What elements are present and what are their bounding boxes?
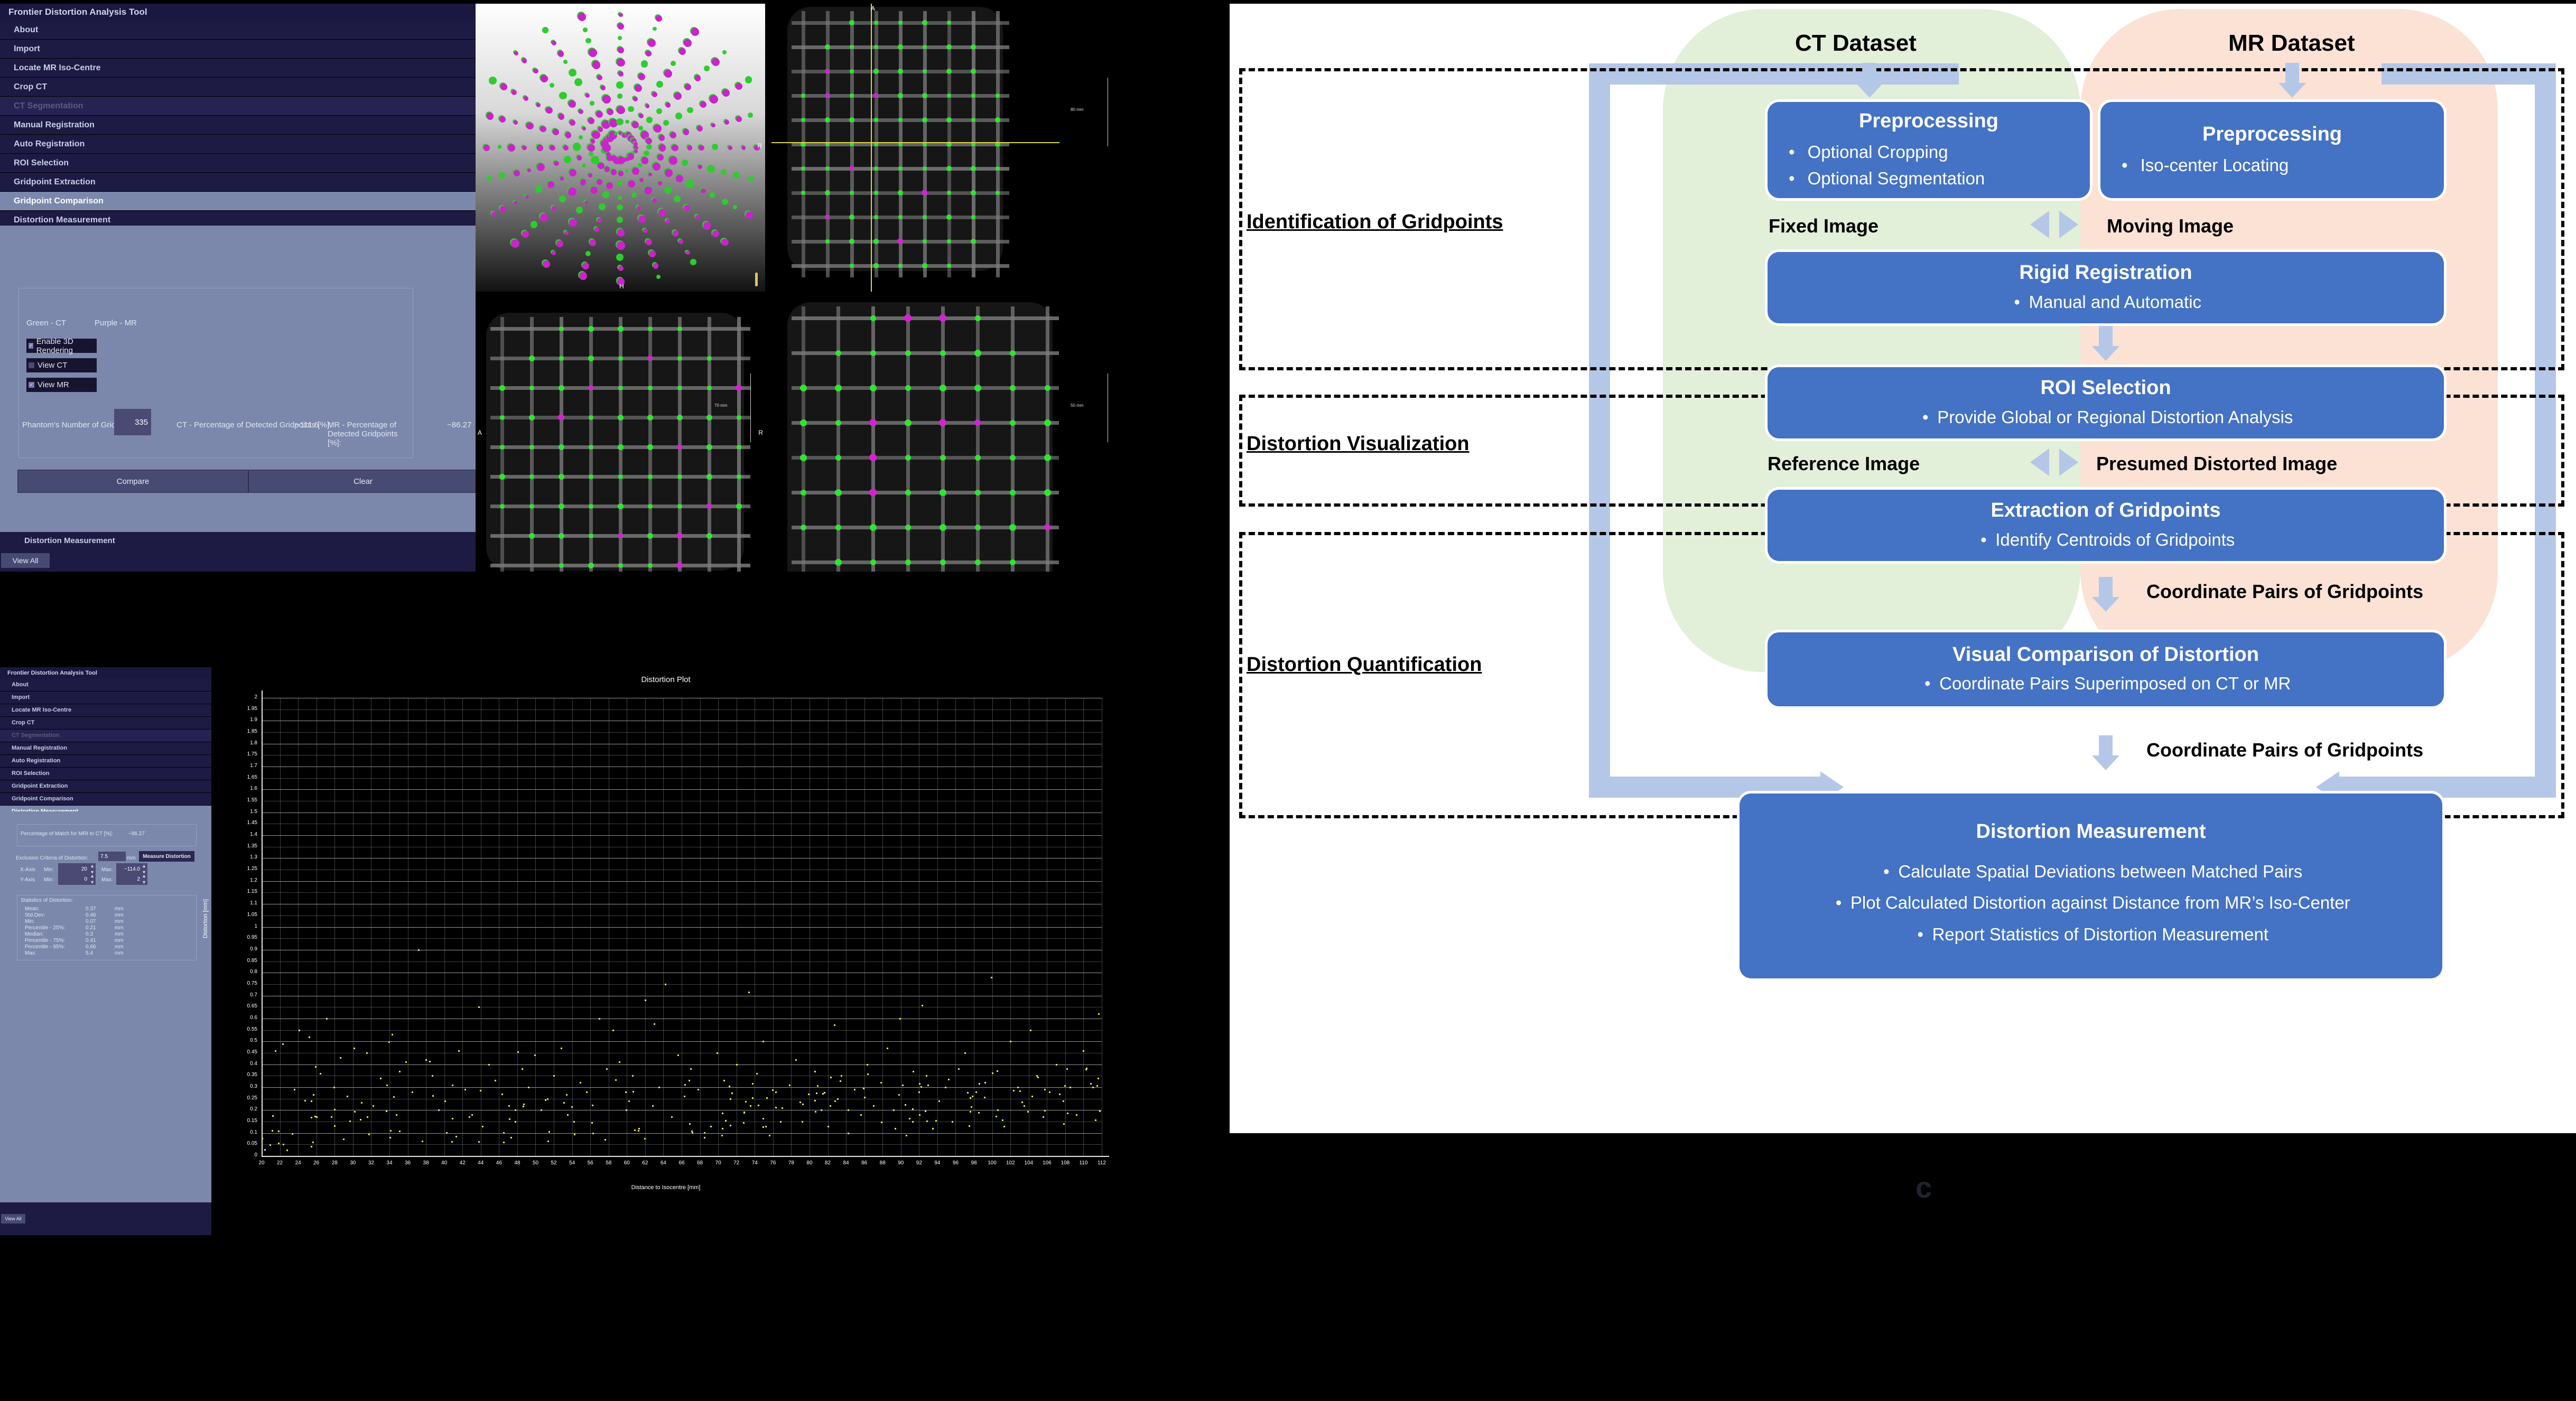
- viewport-sagittal-ct-mr[interactable]: A R 70 mm: [476, 292, 765, 572]
- scatter-point: [1010, 1041, 1011, 1042]
- phantom-grid-bar: [792, 456, 1059, 460]
- gridpoint-marker-ct: [677, 326, 682, 331]
- x-tick-label: 72: [730, 1160, 743, 1166]
- arrow-moving-image-icon: [2059, 211, 2078, 238]
- scatter-point: [1002, 1119, 1003, 1121]
- scatter-point: [634, 1129, 636, 1131]
- scatter-point: [592, 1105, 593, 1106]
- menu-item-crop-ct[interactable]: Crop CT: [0, 717, 211, 730]
- phantom-grid-bar: [941, 306, 945, 572]
- spinner-up-icon[interactable]: ▲: [142, 864, 146, 868]
- gridpoint-marker-ct: [564, 156, 571, 163]
- menu-item-gridpoint-comparison[interactable]: Gridpoint Comparison: [0, 793, 211, 806]
- gridpoint-marker-ct: [801, 94, 805, 98]
- gridpoint-marker-ct: [706, 533, 712, 539]
- gridpoint-marker-ct: [800, 385, 807, 391]
- scatter-point: [386, 1085, 388, 1086]
- view-all-button-b[interactable]: View All: [1, 1214, 25, 1223]
- checkbox-enable-3d-rendering[interactable]: ✓ Enable 3D Rendering: [26, 339, 97, 353]
- y-tick-label: 0.5: [211, 1038, 257, 1043]
- scatter-point: [762, 1041, 764, 1042]
- panel-body-a: Green - CT Purple - MR ✓ Enable 3D Rende…: [0, 226, 476, 572]
- scatter-point: [471, 1114, 473, 1116]
- gridpoint-marker-ct: [648, 563, 653, 568]
- gridline-vertical: [737, 698, 737, 1156]
- gridpoint-marker-ct: [825, 166, 830, 171]
- scatter-point: [523, 1104, 525, 1105]
- box-title: Rigid Registration: [1768, 260, 2444, 286]
- gridpoint-marker-ct: [947, 94, 951, 98]
- checkbox-checked-icon: ✓: [29, 382, 34, 388]
- scatter-point: [396, 1114, 397, 1116]
- scatter-point: [997, 1070, 998, 1072]
- scatter-point: [822, 1093, 824, 1095]
- menu-item-roi-selection[interactable]: ROI Selection: [0, 768, 211, 780]
- gridpoint-marker-ct: [870, 315, 876, 321]
- scatter-point: [840, 1080, 841, 1082]
- menu-item-about[interactable]: About: [0, 679, 211, 692]
- x-tick-label: 78: [785, 1160, 797, 1166]
- scatter-point: [978, 1112, 980, 1114]
- lane-header-ct: CT Dataset: [1795, 30, 1917, 57]
- scatter-point: [1098, 1013, 1100, 1015]
- gridpoint-marker-mr: [514, 170, 520, 176]
- scatter-point: [458, 1050, 460, 1052]
- scatter-point: [612, 1030, 614, 1031]
- gridpoint-marker-ct: [946, 117, 952, 123]
- menu-item-auto-registration[interactable]: Auto Registration: [0, 135, 476, 154]
- stat-value: 0.07: [86, 919, 96, 924]
- gridpoint-marker-ct: [974, 385, 981, 391]
- gridpoint-marker-ct: [874, 21, 878, 25]
- orientation-label-r2: R: [758, 429, 763, 436]
- arrow-ct-to-preproc-head: [1856, 83, 1883, 98]
- checkbox-view-mr[interactable]: ✓ View MR: [26, 378, 97, 392]
- menu-item-ct-segmentation[interactable]: CT Segmentation: [0, 730, 211, 742]
- gridpoint-marker-mr: [619, 13, 622, 17]
- stat-unit: mm: [115, 950, 124, 956]
- gridpoint-marker-mr: [684, 205, 690, 211]
- gridpoint-marker-ct: [618, 356, 623, 361]
- gridpoint-marker-mr: [598, 163, 604, 169]
- gridline-vertical: [298, 698, 299, 1156]
- spinner-down-icon[interactable]: ▼: [90, 880, 95, 884]
- gridpoint-marker-ct: [922, 263, 927, 268]
- scatter-point: [331, 1116, 332, 1118]
- viewport-axial-ct-mr[interactable]: A 80 mm: [771, 4, 1120, 292]
- viewport-coronal-ct-mr[interactable]: 50 mm: [771, 292, 1120, 572]
- scatter-point: [970, 1111, 971, 1113]
- scatter-point: [591, 1122, 593, 1124]
- scatter-point: [1003, 1126, 1005, 1127]
- gridline-vertical: [389, 698, 390, 1156]
- scatter-point: [893, 1109, 895, 1111]
- x-tick-label: 24: [292, 1160, 304, 1166]
- y-axis-label: Y-Axis: [20, 877, 35, 883]
- x-tick-label: 100: [986, 1160, 999, 1166]
- gridpoint-marker-ct: [1045, 385, 1050, 391]
- menu-item-auto-registration[interactable]: Auto Registration: [0, 755, 211, 768]
- spinner-up-icon[interactable]: ▲: [142, 874, 146, 878]
- ruler-50mm: 50 mm: [1096, 373, 1109, 442]
- scatter-point: [830, 1077, 832, 1078]
- exclusion-criteria-label: Exclusion Criteria of Distortion:: [16, 855, 88, 861]
- scatter-point: [286, 1150, 288, 1151]
- checkbox-view-ct[interactable]: View CT: [26, 358, 97, 372]
- stat-value: 0.21: [86, 925, 96, 931]
- phantom-grid-bar: [792, 491, 1059, 494]
- scatter-point: [334, 1109, 336, 1110]
- y-tick-label: 0: [211, 1152, 257, 1158]
- ct-percentage-value: ~111.6: [295, 421, 319, 429]
- gridpoint-marker-ct: [704, 66, 710, 71]
- scatter-point: [282, 1043, 284, 1045]
- box-visual-comparison: Visual Comparison of Distortion • Coordi…: [1768, 632, 2444, 706]
- gridpoint-marker-mr: [487, 113, 494, 119]
- gridpoint-marker-mr: [597, 75, 602, 80]
- scatter-point: [899, 1018, 901, 1020]
- scatter-point: [545, 1099, 546, 1101]
- label-reference-image: Reference Image: [1768, 453, 1920, 475]
- gridpoint-marker-mr: [546, 107, 552, 114]
- x-tick-label: 44: [475, 1160, 487, 1166]
- scatter-point: [984, 1097, 985, 1098]
- stat-unit: mm: [115, 912, 124, 918]
- gridpoint-marker-ct: [559, 444, 564, 450]
- arrow-presumed-distorted-icon: [2059, 449, 2078, 476]
- gridpoint-marker-mr: [568, 188, 576, 195]
- gridpoint-marker-mr: [701, 189, 706, 194]
- scatter-point: [837, 1098, 839, 1100]
- gridline-vertical: [791, 698, 792, 1156]
- viewport-3d-rendering[interactable]: R H: [476, 4, 765, 292]
- exclusion-criteria-input[interactable]: 7.5: [98, 852, 126, 861]
- scatter-point: [887, 1048, 888, 1049]
- scatter-point: [501, 1094, 503, 1095]
- scatter-point: [528, 1087, 529, 1088]
- menu-item-import[interactable]: Import: [0, 40, 476, 59]
- scatter-point: [873, 1105, 875, 1107]
- phantom-grid-bar: [906, 306, 910, 572]
- gridpoint-marker-ct: [531, 221, 538, 228]
- menu-item-manual-registration[interactable]: Manual Registration: [0, 116, 476, 135]
- scatter-point: [996, 1116, 997, 1117]
- scatter-point: [515, 1109, 516, 1111]
- scatter-point: [393, 1096, 395, 1098]
- scatter-point: [605, 1139, 606, 1141]
- y-tick-label: 1.85: [211, 728, 257, 734]
- gridline-vertical: [919, 698, 919, 1156]
- gridpoint-marker-mr: [580, 179, 587, 185]
- gridpoint-marker-ct: [874, 45, 878, 49]
- gridline-vertical: [371, 698, 371, 1156]
- gridpoint-marker-ct: [617, 204, 622, 210]
- scatter-point: [769, 1135, 770, 1136]
- scatter-point: [1013, 1090, 1015, 1091]
- gridpoint-marker-ct: [618, 563, 623, 568]
- workflow-diagram-panel: CT Dataset MR Dataset Preprocessing • Op…: [1230, 4, 2576, 1133]
- scatter-point: [925, 1110, 926, 1112]
- x-tick-label: 30: [347, 1160, 359, 1166]
- y-tick-label: 1.2: [211, 877, 257, 883]
- y-tick-label: 0.3: [211, 1084, 257, 1089]
- gridpoint-marker-ct: [801, 490, 806, 496]
- box-roi-selection: ROI Selection • Provide Global or Region…: [1768, 367, 2444, 438]
- gridline-vertical: [444, 698, 445, 1156]
- stat-unit: mm: [115, 906, 124, 912]
- scatter-point: [432, 1095, 434, 1097]
- y-tick-label: 0.6: [211, 1015, 257, 1021]
- box-preprocessing-mr: Preprocessing • Iso-center Locating: [2100, 102, 2444, 198]
- gridpoint-marker-ct: [947, 239, 951, 244]
- menu-item-roi-selection[interactable]: ROI Selection: [0, 154, 476, 173]
- gridpoint-marker-mr: [491, 212, 496, 217]
- scatter-point: [748, 992, 750, 993]
- gridpoint-marker-ct: [835, 525, 841, 530]
- gridpoint-marker-ct: [996, 166, 1000, 171]
- legend-purple-mr: Purple - MR: [95, 319, 137, 328]
- scatter-point: [340, 1057, 341, 1059]
- phantom-body: [486, 313, 744, 571]
- stat-value: 5.4: [86, 950, 93, 956]
- x-tick-label: 98: [968, 1160, 980, 1166]
- gridpoint-marker-mr: [556, 240, 563, 247]
- gridpoint-marker-ct: [707, 386, 712, 390]
- scatter-point: [586, 1091, 588, 1093]
- gridpoint-marker-mr: [647, 356, 653, 361]
- menu-item-about[interactable]: About: [0, 21, 476, 40]
- scatter-point: [689, 1080, 690, 1081]
- gridpoint-marker-ct: [648, 326, 653, 331]
- view-all-button-a[interactable]: View All: [1, 553, 50, 568]
- spinner-up-icon[interactable]: ▲: [90, 864, 95, 868]
- gridpoint-marker-mr: [646, 239, 652, 246]
- menu-item-gridpoint-extraction[interactable]: Gridpoint Extraction: [0, 780, 211, 793]
- scatter-point: [275, 1050, 276, 1052]
- gridpoint-marker-ct: [801, 191, 805, 195]
- menu-item-import[interactable]: Import: [0, 692, 211, 704]
- scatter-point: [756, 1073, 758, 1075]
- gridpoint-marker-ct: [631, 192, 636, 197]
- gridline-vertical: [408, 698, 408, 1156]
- gridpoint-marker-ct: [682, 160, 688, 166]
- gridpoint-marker-ct: [559, 563, 564, 568]
- menu-item-gridpoint-extraction[interactable]: Gridpoint Extraction: [0, 173, 476, 192]
- gridpoint-marker-mr: [592, 131, 600, 139]
- x-tick-label: 82: [822, 1160, 834, 1166]
- compare-button[interactable]: Compare: [17, 470, 248, 493]
- scatter-point: [1095, 1119, 1096, 1121]
- gridpoint-marker-mr: [684, 39, 692, 47]
- clear-button[interactable]: Clear: [248, 470, 476, 493]
- scatter-point: [834, 1100, 836, 1102]
- scatter-point: [816, 1092, 817, 1094]
- gridpoint-marker-ct: [874, 215, 878, 219]
- gridpoint-marker-mr: [676, 533, 683, 539]
- x-tick-label: 22: [274, 1160, 286, 1166]
- gridpoint-marker-ct: [664, 186, 672, 194]
- scatter-point: [817, 1085, 819, 1087]
- x-axis-min-value: 20: [81, 866, 87, 872]
- y-tick-label: 0.2: [211, 1106, 257, 1112]
- gridpoint-marker-mr: [633, 97, 638, 101]
- gridpoint-marker-mr: [721, 239, 729, 246]
- stat-unit: mm: [115, 944, 124, 950]
- gridpoint-marker-mr: [746, 211, 754, 219]
- box-preprocessing-ct: Preprocessing • Optional Cropping • Opti…: [1768, 102, 2090, 198]
- scatter-point: [789, 1085, 791, 1086]
- scatter-point: [766, 1097, 768, 1099]
- gridpoint-marker-ct: [641, 60, 648, 67]
- spinner-up-icon[interactable]: ▲: [90, 874, 95, 878]
- scatter-point: [895, 1128, 896, 1129]
- sidebar-panel-b: Frontier Distortion Analysis Tool AboutI…: [0, 667, 211, 1235]
- menu-item-locate-mr-iso-centre[interactable]: Locate MR Iso-Centre: [0, 704, 211, 717]
- legend-green-ct: Green - CT: [26, 319, 66, 328]
- y-tick-label: 1.15: [211, 889, 257, 894]
- scatter-point: [309, 1036, 310, 1038]
- scatter-point: [979, 1083, 980, 1085]
- gridpoint-marker-mr: [591, 139, 596, 144]
- scatter-point: [399, 1131, 401, 1132]
- stage-label-quantification: Distortion Quantification: [1247, 653, 1482, 676]
- gridpoint-marker-ct: [625, 120, 629, 124]
- scatter-point: [969, 1125, 970, 1127]
- y-tick-label: 1.9: [211, 717, 257, 723]
- gridpoint-marker-ct: [617, 217, 623, 223]
- menu-item-locate-mr-iso-centre[interactable]: Locate MR Iso-Centre: [0, 59, 476, 78]
- scatter-point: [926, 1075, 927, 1077]
- scatter-point: [1056, 1064, 1057, 1066]
- gridpoint-marker-ct: [874, 166, 878, 171]
- scatter-point: [316, 1116, 318, 1118]
- gridpoint-marker-ct: [946, 214, 952, 220]
- y-axis-min-label: Min:: [44, 877, 54, 883]
- scatter-point: [704, 1132, 705, 1134]
- scatter-point: [665, 984, 666, 985]
- scatter-point: [912, 1108, 914, 1110]
- gridpoint-marker-ct: [589, 415, 593, 420]
- gridpoint-marker-ct: [602, 191, 609, 198]
- scatter-point: [446, 1132, 448, 1134]
- gridpoint-marker-ct: [737, 445, 741, 450]
- gridpoint-marker-ct: [825, 117, 830, 123]
- gridpoint-marker-mr: [672, 145, 678, 151]
- x-tick-label: 110: [1077, 1160, 1090, 1166]
- gridpoint-marker-ct: [898, 118, 903, 122]
- phantom-gridpoints-input[interactable]: 335: [114, 409, 151, 435]
- scatter-point: [652, 1105, 654, 1107]
- gridpoint-marker-mr: [939, 314, 946, 322]
- gridpoint-marker-mr: [674, 92, 682, 100]
- menu-item-crop-ct[interactable]: Crop CT: [0, 78, 476, 97]
- menu-item-gridpoint-comparison[interactable]: Gridpoint Comparison: [0, 192, 476, 211]
- gridpoint-marker-mr: [537, 145, 543, 151]
- y-tick-label: 0.55: [211, 1026, 257, 1032]
- gridpoint-marker-ct: [898, 44, 903, 50]
- gridpoint-marker-ct: [616, 81, 624, 89]
- gridpoint-marker-ct: [588, 326, 594, 332]
- gridpoint-marker-mr: [691, 28, 699, 36]
- gridpoint-marker-ct: [646, 144, 652, 150]
- scatter-point: [972, 1096, 973, 1097]
- gridpoint-marker-ct: [947, 191, 951, 195]
- scatter-point: [388, 1041, 390, 1043]
- gridpoint-marker-ct: [529, 504, 534, 509]
- stat-name: Median:: [25, 931, 44, 937]
- gridpoint-marker-ct: [873, 263, 879, 268]
- scatter-point: [503, 1142, 505, 1143]
- scatter-point: [854, 1089, 855, 1090]
- scatter-point: [478, 1006, 480, 1008]
- scatter-point: [834, 1024, 835, 1026]
- gridpoint-marker-ct: [599, 203, 605, 210]
- gridpoint-marker-mr: [669, 156, 677, 164]
- gridpoint-marker-ct: [618, 415, 624, 421]
- menu-item-ct-segmentation[interactable]: CT Segmentation: [0, 97, 476, 116]
- scatter-point: [392, 1034, 393, 1035]
- box-bullet: Iso-center Locating: [2141, 155, 2289, 175]
- gridpoint-marker-mr: [728, 146, 732, 150]
- x-tick-label: 34: [383, 1160, 396, 1166]
- scatter-point: [1017, 1087, 1019, 1088]
- distortion-plot[interactable]: Distortion Plot 00.050.10.150.20.250.30.…: [211, 667, 1120, 1202]
- gridpoint-marker-mr: [508, 144, 515, 152]
- x-axis-max-value: ~114.0: [124, 866, 140, 872]
- gridline-vertical: [846, 698, 847, 1156]
- stat-unit: mm: [115, 938, 124, 944]
- y-axis-max-input[interactable]: 2 ▲ ▼: [116, 873, 147, 885]
- gridpoint-marker-ct: [923, 215, 927, 219]
- scatter-point: [860, 1114, 862, 1116]
- scatter-point: [1063, 1100, 1064, 1102]
- box-title: Distortion Measurement: [1740, 819, 2442, 845]
- gridline-vertical: [718, 698, 719, 1156]
- gridpoint-marker-ct: [499, 172, 505, 179]
- gridpoint-marker-mr: [540, 126, 546, 132]
- gridline-vertical: [572, 698, 573, 1156]
- gridline-vertical: [773, 698, 774, 1156]
- scatter-point: [389, 1137, 391, 1138]
- scatter-point: [710, 1126, 712, 1127]
- gridpoint-marker-ct: [923, 166, 927, 171]
- gridpoint-marker-mr: [825, 214, 830, 219]
- scatter-point: [464, 1089, 466, 1090]
- gridpoint-marker-ct: [898, 215, 903, 219]
- scatter-point: [638, 1130, 639, 1132]
- scatter-point: [510, 1137, 512, 1138]
- x-tick-label: 70: [712, 1160, 724, 1166]
- arrow-coordpairs-lower: [2099, 735, 2113, 756]
- spinner-down-icon[interactable]: ▼: [142, 880, 146, 884]
- y-axis-min-input[interactable]: 0 ▲ ▼: [58, 873, 96, 885]
- gridpoint-marker-ct: [677, 386, 682, 390]
- scatter-point: [881, 1122, 882, 1123]
- scatter-point: [580, 1082, 581, 1084]
- orientation-label-h: H: [619, 283, 624, 290]
- gridpoint-marker-ct: [835, 350, 841, 356]
- menu-item-manual-registration[interactable]: Manual Registration: [0, 742, 211, 755]
- orientation-label-a: A: [871, 5, 875, 12]
- gridline-vertical: [1010, 698, 1011, 1156]
- gridpoint-marker-mr: [646, 104, 649, 108]
- gridpoint-marker-ct: [870, 385, 877, 391]
- gridpoint-marker-mr: [584, 201, 588, 204]
- measure-distortion-button[interactable]: Measure Distortion: [139, 851, 194, 862]
- gridpoint-marker-ct: [850, 94, 854, 98]
- gridpoint-marker-mr: [526, 123, 533, 129]
- mr-percentage-value: ~86.27: [447, 421, 471, 429]
